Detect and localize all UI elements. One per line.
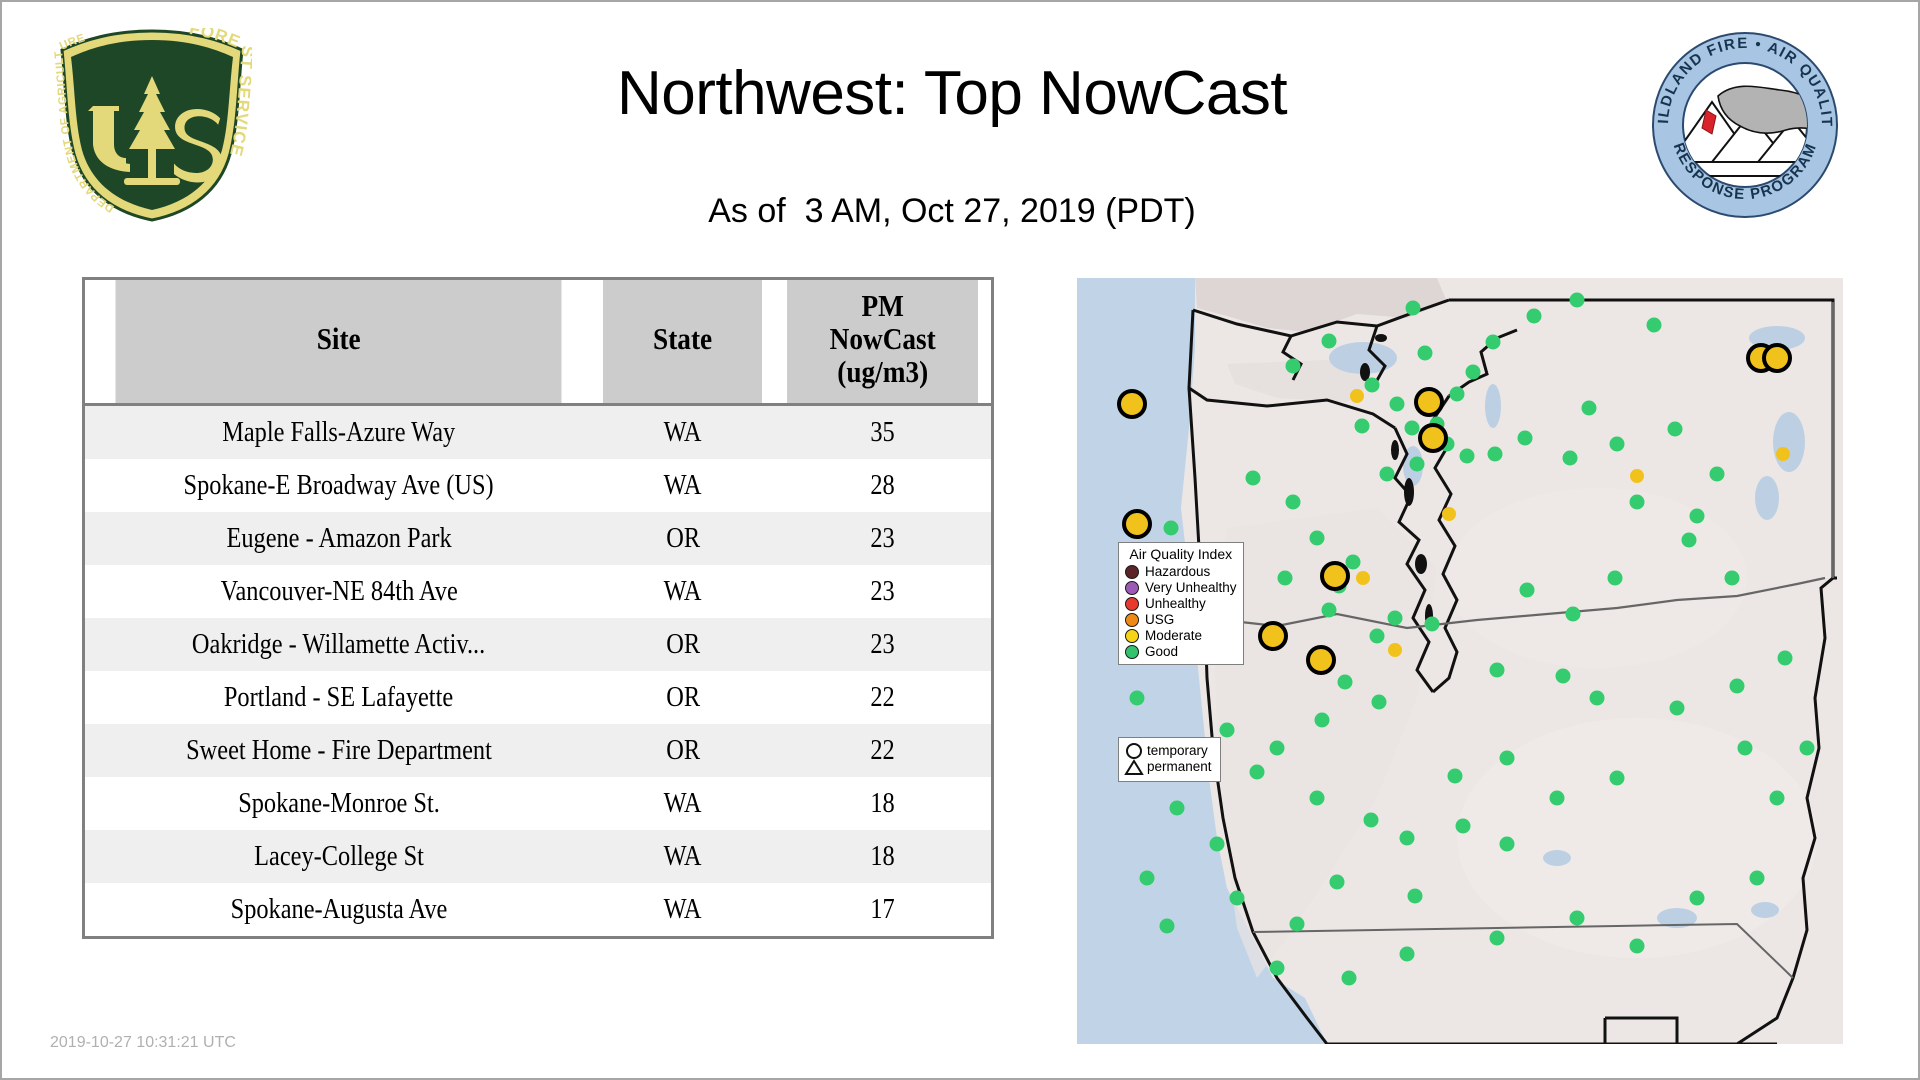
- cell-value: 17: [774, 883, 991, 936]
- wildland-fire-air-quality-seal-icon: WILDLAND FIRE • AIR QUALITY RESPONSE PRO…: [1650, 30, 1840, 220]
- cell-state: OR: [592, 618, 773, 671]
- map-marker-good[interactable]: [1486, 335, 1501, 350]
- map-marker-good[interactable]: [1582, 401, 1597, 416]
- map-marker-good[interactable]: [1372, 695, 1387, 710]
- map-marker-moderate[interactable]: [1388, 643, 1402, 657]
- map-marker-good[interactable]: [1418, 346, 1433, 361]
- map-marker-good[interactable]: [1370, 629, 1385, 644]
- map-marker-good[interactable]: [1338, 675, 1353, 690]
- cell-site: Eugene - Amazon Park: [85, 512, 592, 565]
- cell-value: 18: [774, 830, 991, 883]
- aqi-legend-swatch: [1125, 613, 1139, 627]
- page-title: Northwest: Top NowCast: [262, 58, 1642, 129]
- map-marker-good[interactable]: [1210, 837, 1225, 852]
- map-marker-moderate-top-site[interactable]: [1322, 563, 1348, 589]
- map-marker-good[interactable]: [1570, 911, 1585, 926]
- aqi-legend-title: Air Quality Index: [1125, 546, 1237, 562]
- aqi-legend-swatch: [1125, 597, 1139, 611]
- map-marker-good[interactable]: [1563, 451, 1578, 466]
- map-marker-good[interactable]: [1490, 931, 1505, 946]
- map-marker-good[interactable]: [1410, 457, 1425, 472]
- aqi-legend-swatch: [1125, 629, 1139, 643]
- column-header-site: Site: [115, 280, 561, 404]
- map-marker-good[interactable]: [1670, 701, 1685, 716]
- map-marker-good[interactable]: [1800, 741, 1815, 756]
- cell-state: OR: [592, 512, 773, 565]
- map-marker-good[interactable]: [1405, 421, 1420, 436]
- nowcast-report-page: FOREST SERVICE DEPARTMENT OF AGRICULTURE: [0, 0, 1920, 1080]
- top-nowcast-table-container: Site State PM NowCast (ug/m3) Maple Fall…: [82, 277, 994, 939]
- map-marker-good[interactable]: [1380, 467, 1395, 482]
- cell-site: Vancouver-NE 84th Ave: [85, 565, 592, 618]
- map-marker-good[interactable]: [1738, 741, 1753, 756]
- map-marker-good[interactable]: [1566, 607, 1581, 622]
- aqi-legend-label: Unhealthy: [1145, 596, 1206, 612]
- map-marker-good[interactable]: [1450, 387, 1465, 402]
- map-marker-good[interactable]: [1448, 769, 1463, 784]
- map-marker-good[interactable]: [1270, 961, 1285, 976]
- temporary-sensor-label: temporary: [1147, 743, 1212, 759]
- cell-value: 22: [774, 671, 991, 724]
- cell-state: WA: [592, 459, 773, 512]
- column-header-pm-nowcast: PM NowCast (ug/m3): [787, 280, 978, 404]
- forest-service-shield-icon: FOREST SERVICE DEPARTMENT OF AGRICULTURE: [52, 28, 252, 223]
- map-marker-good[interactable]: [1500, 751, 1515, 766]
- map-marker-good[interactable]: [1570, 293, 1585, 308]
- generation-timestamp: 2019-10-27 10:31:21 UTC: [50, 1034, 236, 1052]
- aqi-legend: Air Quality Index HazardousVery Unhealth…: [1118, 542, 1244, 665]
- map-marker-good[interactable]: [1230, 891, 1245, 906]
- map-marker-good[interactable]: [1668, 422, 1683, 437]
- cell-state: WA: [592, 404, 773, 459]
- map-marker-moderate-top-site[interactable]: [1124, 511, 1150, 537]
- map-marker-good[interactable]: [1690, 891, 1705, 906]
- map-marker-good[interactable]: [1608, 571, 1623, 586]
- cell-value: 35: [774, 404, 991, 459]
- map-marker-good[interactable]: [1270, 741, 1285, 756]
- map-marker-good[interactable]: [1315, 713, 1330, 728]
- map-marker-good[interactable]: [1630, 495, 1645, 510]
- map-marker-moderate-top-site[interactable]: [1119, 391, 1145, 417]
- table-row[interactable]: Oakridge - Willamette Activ...OR23: [85, 618, 991, 671]
- map-marker-good[interactable]: [1456, 819, 1471, 834]
- map-marker-good[interactable]: [1556, 669, 1571, 684]
- table-row[interactable]: Eugene - Amazon ParkOR23: [85, 512, 991, 565]
- cell-site: Spokane-Monroe St.: [85, 777, 592, 830]
- map-marker-good[interactable]: [1590, 691, 1605, 706]
- table-row[interactable]: Spokane-E Broadway Ave (US)WA28: [85, 459, 991, 512]
- map-marker-moderate-top-site[interactable]: [1420, 425, 1446, 451]
- map-marker-good[interactable]: [1610, 771, 1625, 786]
- map-marker-good[interactable]: [1610, 437, 1625, 452]
- map-marker-good[interactable]: [1342, 971, 1357, 986]
- map-marker-good[interactable]: [1286, 359, 1301, 374]
- cell-site: Maple Falls-Azure Way: [85, 404, 592, 459]
- map-marker-good[interactable]: [1466, 365, 1481, 380]
- aqi-legend-label: Hazardous: [1145, 564, 1210, 580]
- table-row[interactable]: Spokane-Monroe St.WA18: [85, 777, 991, 830]
- map-marker-good[interactable]: [1130, 691, 1145, 706]
- map-marker-good[interactable]: [1160, 919, 1175, 934]
- cell-state: WA: [592, 777, 773, 830]
- map-marker-good[interactable]: [1770, 791, 1785, 806]
- cell-value: 23: [774, 618, 991, 671]
- cell-site: Spokane-Augusta Ave: [85, 883, 592, 936]
- column-header-state: State: [603, 280, 762, 404]
- cell-state: WA: [592, 830, 773, 883]
- map-marker-good[interactable]: [1520, 583, 1535, 598]
- aqi-legend-label: USG: [1145, 612, 1174, 628]
- aqi-legend-label: Moderate: [1145, 628, 1202, 644]
- forest-service-logo: FOREST SERVICE DEPARTMENT OF AGRICULTURE: [52, 28, 252, 223]
- table-row[interactable]: Vancouver-NE 84th AveWA23: [85, 565, 991, 618]
- cell-state: OR: [592, 724, 773, 777]
- table-row[interactable]: Sweet Home - Fire DepartmentOR22: [85, 724, 991, 777]
- map-marker-good[interactable]: [1322, 603, 1337, 618]
- aqi-legend-item: Very Unhealthy: [1125, 580, 1237, 596]
- map-marker-good[interactable]: [1364, 813, 1379, 828]
- map-marker-moderate[interactable]: [1442, 507, 1456, 521]
- map-marker-good[interactable]: [1460, 449, 1475, 464]
- map-marker-moderate-top-site[interactable]: [1260, 623, 1286, 649]
- map-marker-good[interactable]: [1388, 611, 1403, 626]
- map-marker-good[interactable]: [1730, 679, 1745, 694]
- permanent-triangle-icon: [1126, 761, 1142, 774]
- map-marker-good[interactable]: [1690, 509, 1705, 524]
- map-marker-good[interactable]: [1246, 471, 1261, 486]
- map-marker-moderate[interactable]: [1776, 447, 1790, 461]
- wfaqrp-logo: WILDLAND FIRE • AIR QUALITY RESPONSE PRO…: [1650, 30, 1840, 220]
- table-row[interactable]: Spokane-Augusta AveWA17: [85, 883, 991, 936]
- cell-state: WA: [592, 565, 773, 618]
- map-marker-good[interactable]: [1647, 318, 1662, 333]
- page-subtitle: As of 3 AM, Oct 27, 2019 (PDT): [262, 192, 1642, 231]
- aqi-legend-item: Hazardous: [1125, 564, 1237, 580]
- map-marker-good[interactable]: [1322, 334, 1337, 349]
- aqi-legend-label: Very Unhealthy: [1145, 580, 1237, 596]
- aqi-legend-swatch: [1125, 645, 1139, 659]
- table-row[interactable]: Maple Falls-Azure WayWA35: [85, 404, 991, 459]
- map-marker-good[interactable]: [1518, 431, 1533, 446]
- map-marker-good[interactable]: [1330, 875, 1345, 890]
- map-marker-good[interactable]: [1500, 837, 1515, 852]
- map-marker-good[interactable]: [1400, 947, 1415, 962]
- map-marker-good[interactable]: [1164, 521, 1179, 536]
- map-marker-good[interactable]: [1286, 495, 1301, 510]
- map-marker-good[interactable]: [1346, 555, 1361, 570]
- map-marker-good[interactable]: [1408, 889, 1423, 904]
- aqi-legend-swatch: [1125, 581, 1139, 595]
- map-marker-good[interactable]: [1527, 309, 1542, 324]
- map-marker-good[interactable]: [1310, 791, 1325, 806]
- aqi-legend-swatch: [1125, 565, 1139, 579]
- map-marker-good[interactable]: [1170, 801, 1185, 816]
- map-marker-good[interactable]: [1710, 467, 1725, 482]
- map-marker-moderate[interactable]: [1350, 389, 1364, 403]
- map-marker-good[interactable]: [1750, 871, 1765, 886]
- map-marker-good[interactable]: [1365, 378, 1380, 393]
- cell-value: 28: [774, 459, 991, 512]
- map-marker-good[interactable]: [1220, 723, 1235, 738]
- cell-site: Portland - SE Lafayette: [85, 671, 592, 724]
- map-marker-moderate-top-site[interactable]: [1764, 345, 1790, 371]
- cell-site: Oakridge - Willamette Activ...: [85, 618, 592, 671]
- map-marker-good[interactable]: [1278, 571, 1293, 586]
- cell-value: 18: [774, 777, 991, 830]
- map-marker-good[interactable]: [1630, 939, 1645, 954]
- cell-site: Sweet Home - Fire Department: [85, 724, 592, 777]
- map-marker-good[interactable]: [1406, 301, 1421, 316]
- map-marker-moderate[interactable]: [1356, 571, 1370, 585]
- table-row[interactable]: Portland - SE LafayetteOR22: [85, 671, 991, 724]
- cell-state: WA: [592, 883, 773, 936]
- map-marker-good[interactable]: [1778, 651, 1793, 666]
- cell-value: 23: [774, 512, 991, 565]
- table-header-row: Site State PM NowCast (ug/m3): [85, 280, 991, 404]
- aqi-legend-item: Good: [1125, 644, 1237, 660]
- map-marker-good[interactable]: [1425, 617, 1440, 632]
- map-marker-good[interactable]: [1355, 419, 1370, 434]
- permanent-sensor-label: permanent: [1147, 759, 1212, 775]
- map-marker-good[interactable]: [1490, 663, 1505, 678]
- map-marker-good[interactable]: [1290, 917, 1305, 932]
- map-marker-good[interactable]: [1250, 765, 1265, 780]
- map-marker-good[interactable]: [1140, 871, 1155, 886]
- cell-site: Lacey-College St: [85, 830, 592, 883]
- map-marker-moderate-top-site[interactable]: [1308, 647, 1334, 673]
- aqi-legend-item: Moderate: [1125, 628, 1237, 644]
- map-marker-good[interactable]: [1390, 397, 1405, 412]
- map-marker-moderate-top-site[interactable]: [1416, 389, 1442, 415]
- aqi-legend-item: USG: [1125, 612, 1237, 628]
- cell-site: Spokane-E Broadway Ave (US): [85, 459, 592, 512]
- cell-value: 23: [774, 565, 991, 618]
- map-marker-good[interactable]: [1310, 531, 1325, 546]
- aqi-legend-item: Unhealthy: [1125, 596, 1237, 612]
- air-quality-map[interactable]: Air Quality Index HazardousVery Unhealth…: [1077, 278, 1843, 1044]
- map-marker-good[interactable]: [1725, 571, 1740, 586]
- sensor-type-glyphs: [1123, 742, 1145, 776]
- top-nowcast-table: Site State PM NowCast (ug/m3) Maple Fall…: [85, 280, 991, 936]
- sensor-type-legend: temporary permanent: [1118, 737, 1221, 782]
- table-body: Maple Falls-Azure WayWA35Spokane-E Broad…: [85, 404, 991, 936]
- map-marker-good[interactable]: [1488, 447, 1503, 462]
- cell-state: OR: [592, 671, 773, 724]
- aqi-legend-label: Good: [1145, 644, 1178, 660]
- table-row[interactable]: Lacey-College StWA18: [85, 830, 991, 883]
- map-marker-good[interactable]: [1682, 533, 1697, 548]
- map-marker-good[interactable]: [1400, 831, 1415, 846]
- map-marker-moderate[interactable]: [1630, 469, 1644, 483]
- map-marker-good[interactable]: [1550, 791, 1565, 806]
- temporary-circle-icon: [1127, 744, 1141, 758]
- cell-value: 22: [774, 724, 991, 777]
